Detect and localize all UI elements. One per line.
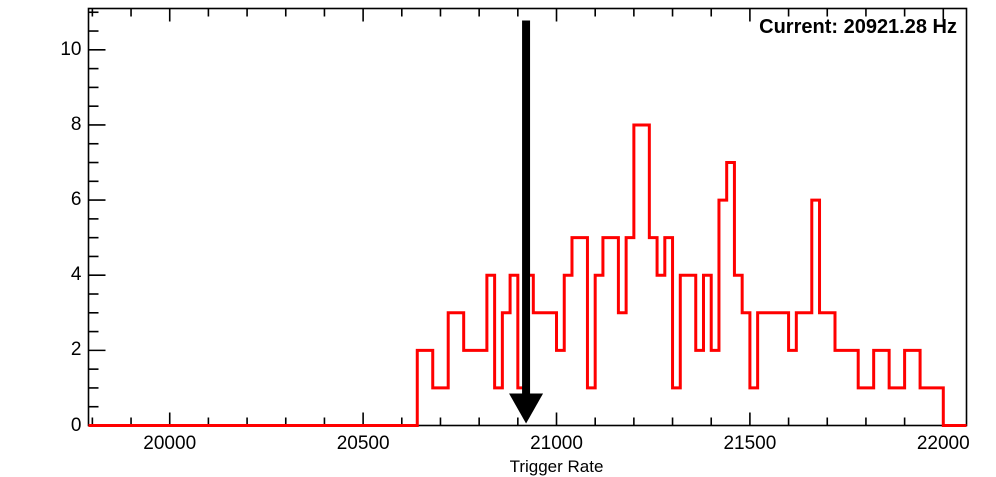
x-tick-label: 21500	[723, 433, 776, 455]
x-tick-label: 20500	[337, 433, 390, 455]
current-value-arrow	[509, 21, 543, 424]
y-tick-label: 2	[71, 339, 82, 361]
chart-canvas: 20000205002100021500220000246810 Trigger…	[0, 0, 996, 472]
y-tick-label: 8	[71, 114, 82, 136]
y-axis-ticks	[89, 12, 106, 425]
x-tick-label: 22000	[917, 433, 970, 455]
trigger-rate-histogram-plot	[0, 0, 996, 472]
y-tick-label: 6	[71, 189, 82, 211]
current-readout-label: Current: 20921.28 Hz	[759, 16, 957, 39]
x-tick-label: 20000	[143, 433, 196, 455]
x-tick-label: 21000	[530, 433, 583, 455]
y-tick-label: 0	[71, 415, 82, 437]
arrow-head	[509, 394, 543, 424]
y-tick-label: 4	[71, 264, 82, 286]
x-axis-title: Trigger Rate	[510, 457, 604, 477]
y-tick-label: 10	[60, 39, 81, 61]
